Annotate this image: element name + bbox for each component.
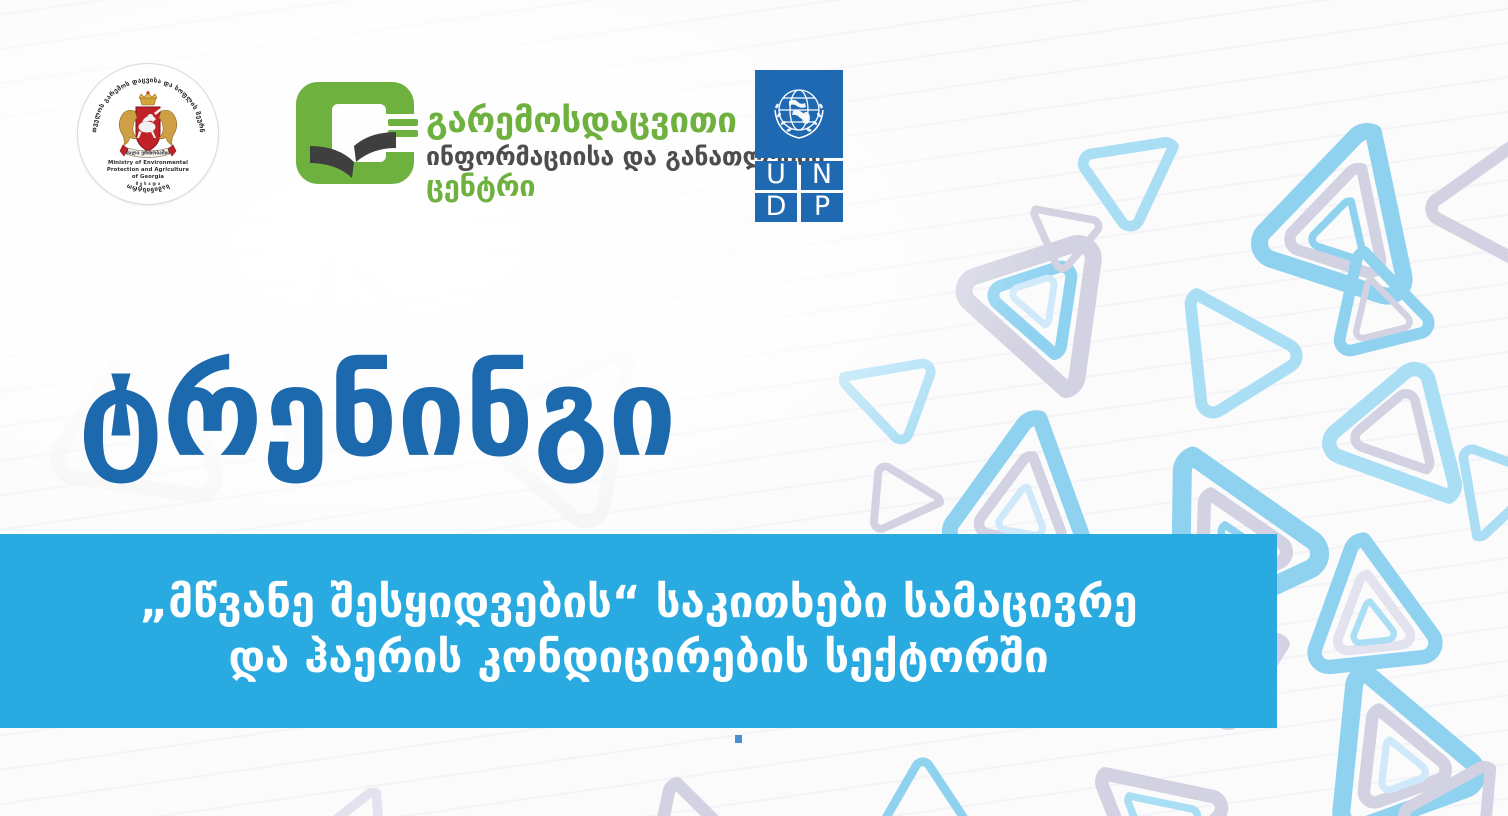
undp-letter-p: P	[814, 191, 830, 222]
georgia-coat-of-arms: ძალა ერთობაშია	[109, 91, 187, 163]
undp-logo: U N D P	[755, 70, 843, 222]
seal-caption-line1: Ministry of Environmental	[108, 160, 188, 166]
triangle-motif	[1300, 650, 1480, 816]
seal-caption: Ministry of Environmental Protection and…	[78, 160, 218, 188]
triangle-motif	[1310, 230, 1440, 360]
triangle-motif	[1290, 520, 1450, 680]
svg-text:ძალა ერთობაშია: ძალა ერთობაშია	[126, 149, 171, 156]
banner-line-2: და ჰაერის კონდიცირების სექტორში	[228, 631, 1048, 686]
poster-canvas: საქართველოს გარემოს დაცვისა და სოფლის მე…	[0, 0, 1508, 816]
undp-letter-d: D	[766, 191, 787, 222]
triangle-motif	[1330, 370, 1490, 530]
logo-row: საქართველოს გარემოს დაცვისა და სოფლის მე…	[0, 0, 1508, 240]
triangle-motif	[1400, 740, 1508, 816]
triangle-motif	[1070, 735, 1220, 816]
banner-line-1: „მწვანე შესყიდვების“ საკითხები სამაცივრე	[140, 576, 1138, 631]
triangle-motif	[1150, 265, 1300, 415]
triangle-motif	[880, 755, 990, 816]
subtitle-banner: „მწვანე შესყიდვების“ საკითხები სამაცივრე…	[0, 534, 1277, 728]
stray-marker-dot	[735, 735, 742, 743]
seal-caption-line2: Protection and Agriculture	[107, 167, 189, 173]
seal-caption-line4: მ ე ს ა დ ა	[78, 182, 218, 188]
eiec-book-mark-icon	[292, 78, 420, 196]
undp-letter-n: N	[812, 159, 832, 190]
triangle-motif	[620, 762, 760, 816]
triangle-motif	[820, 330, 940, 450]
triangle-motif	[300, 768, 420, 816]
ministry-seal-logo: საქართველოს გარემოს დაცვისა და სოფლის მე…	[78, 64, 218, 204]
undp-letter-u: U	[766, 159, 786, 190]
triangle-motif	[960, 240, 1130, 410]
seal-caption-line3: of Georgia	[132, 174, 164, 180]
triangle-motif	[1430, 440, 1508, 560]
page-title: ტრენინგი	[78, 352, 676, 474]
